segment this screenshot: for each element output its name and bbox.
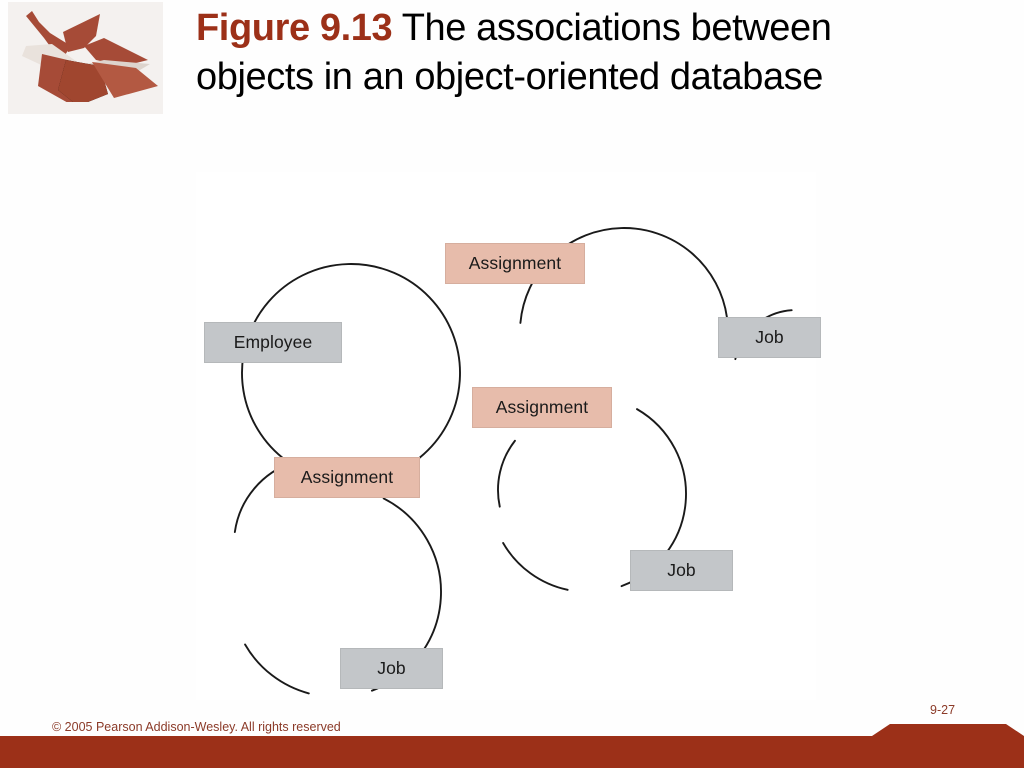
page-title: Figure 9.13 The associations between obj…: [196, 4, 916, 102]
page-number: 9-27: [930, 703, 955, 717]
diagram-node-label: Assignment: [496, 397, 588, 418]
diagram-node-job-2[interactable]: Job: [630, 550, 733, 591]
diagram-node-label: Assignment: [301, 467, 393, 488]
diagram-node-assignment-1[interactable]: Assignment: [445, 243, 585, 284]
bottom-bar-shape: [0, 722, 1024, 768]
bottom-decorative-bar: [0, 722, 1024, 768]
diagram-node-label: Assignment: [469, 253, 561, 274]
association-arc-job2-tail: [503, 543, 567, 590]
origami-crane-icon: [8, 2, 163, 114]
diagram-node-assignment-3[interactable]: Assignment: [274, 457, 420, 498]
diagram-node-employee[interactable]: Employee: [204, 322, 342, 363]
diagram-node-assignment-2[interactable]: Assignment: [472, 387, 612, 428]
diagram-node-job-1[interactable]: Job: [718, 317, 821, 358]
diagram-node-job-3[interactable]: Job: [340, 648, 443, 689]
diagram-node-label: Job: [667, 560, 696, 581]
diagram-node-label: Job: [755, 327, 784, 348]
diagram-node-label: Job: [377, 658, 406, 679]
origami-crane-logo: [8, 2, 163, 114]
association-arc-assignment2-stub: [498, 441, 515, 507]
diagram-node-label: Employee: [234, 332, 313, 353]
object-association-diagram: EmployeeAssignmentJobAssignmentAssignmen…: [196, 172, 816, 700]
association-arc-job3-tail: [245, 645, 309, 694]
figure-label: Figure 9.13: [196, 7, 392, 49]
slide-canvas: Figure 9.13 The associations between obj…: [0, 0, 1024, 768]
